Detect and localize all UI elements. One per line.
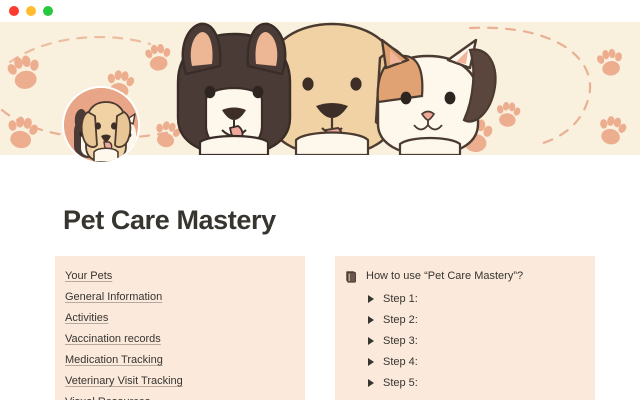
three-pets-circle-icon <box>64 88 138 162</box>
window-titlebar <box>0 0 640 22</box>
book-icon <box>345 270 358 283</box>
chevron-right-icon[interactable] <box>368 295 374 303</box>
maximize-button[interactable] <box>43 6 53 16</box>
toggle-step-5[interactable]: Step 5: <box>345 372 585 393</box>
page-title: Pet Care Mastery <box>63 205 276 236</box>
link-vaccination-records[interactable]: Vaccination records <box>65 329 295 350</box>
toggle-step-2[interactable]: Step 2: <box>345 309 585 330</box>
chevron-right-icon[interactable] <box>368 379 374 387</box>
french-bulldog-illustration <box>178 24 290 155</box>
app-window: Pet Care Mastery Your Pets General Infor… <box>0 0 640 400</box>
content-columns: Your Pets General Information Activities… <box>55 256 595 400</box>
page-icon[interactable] <box>64 88 138 162</box>
link-general-information[interactable]: General Information <box>65 287 295 308</box>
link-veterinary-visit-tracking[interactable]: Veterinary Visit Tracking <box>65 371 295 392</box>
link-your-pets[interactable]: Your Pets <box>65 266 295 287</box>
close-button[interactable] <box>9 6 19 16</box>
toggle-step-4[interactable]: Step 4: <box>345 351 585 372</box>
how-to-use-heading: How to use “Pet Care Mastery”? <box>366 270 523 282</box>
link-medication-tracking[interactable]: Medication Tracking <box>65 350 295 371</box>
chevron-right-icon[interactable] <box>368 337 374 345</box>
chevron-right-icon[interactable] <box>368 316 374 324</box>
link-visual-resources[interactable]: Visual Resources <box>65 392 295 400</box>
toggle-step-1[interactable]: Step 1: <box>345 288 585 309</box>
step-4-label: Step 4: <box>383 356 418 368</box>
navigation-links-panel: Your Pets General Information Activities… <box>55 256 305 400</box>
chevron-right-icon[interactable] <box>368 358 374 366</box>
link-activities[interactable]: Activities <box>65 308 295 329</box>
how-to-use-heading-row: How to use “Pet Care Mastery”? <box>345 266 585 286</box>
step-1-label: Step 1: <box>383 293 418 305</box>
step-5-label: Step 5: <box>383 377 418 389</box>
minimize-button[interactable] <box>26 6 36 16</box>
step-2-label: Step 2: <box>383 314 418 326</box>
step-3-label: Step 3: <box>383 335 418 347</box>
how-to-use-panel: How to use “Pet Care Mastery”? Step 1: S… <box>335 256 595 400</box>
toggle-step-3[interactable]: Step 3: <box>345 330 585 351</box>
